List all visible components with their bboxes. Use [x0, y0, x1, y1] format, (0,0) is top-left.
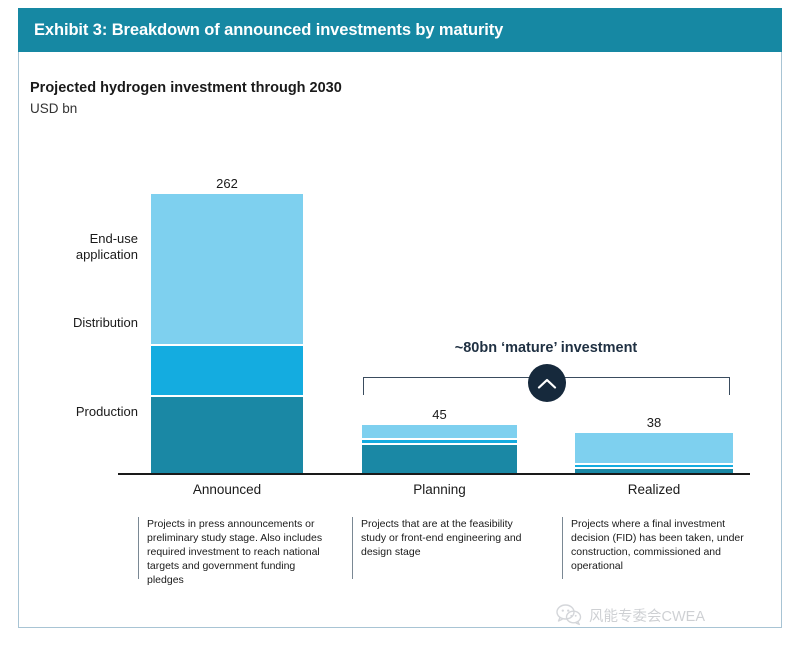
bar-segment-production[interactable]: [151, 397, 303, 473]
mature-investment-badge: [528, 364, 566, 402]
bar-announced[interactable]: [151, 194, 303, 473]
bar-value-label-realized: 38: [575, 415, 733, 430]
watermark-text: 风能专委会CWEA: [589, 605, 705, 626]
chart-units-subtitle: USD bn: [30, 101, 77, 116]
mature-investment-annotation-text: ~80bn ‘mature’ investment: [360, 340, 732, 356]
exhibit-header-title: Exhibit 3: Breakdown of announced invest…: [18, 21, 503, 40]
bar-value-label-planning: 45: [362, 407, 517, 422]
bar-segment-distribution[interactable]: [151, 346, 303, 395]
bar-planning[interactable]: [362, 425, 517, 473]
x-axis-label-planning: Planning: [362, 482, 517, 497]
chart-title: Projected hydrogen investment through 20…: [30, 80, 342, 96]
bar-segment-end-use-application[interactable]: [362, 425, 517, 438]
watermark: 风能专委会CWEA: [556, 604, 705, 626]
bar-realized[interactable]: [575, 433, 733, 473]
series-label-end-use-application: End-use application: [28, 231, 138, 263]
footnote-announced: Projects in press announcements or preli…: [138, 517, 326, 579]
series-label-distribution: Distribution: [28, 315, 138, 331]
exhibit-header: Exhibit 3: Breakdown of announced invest…: [18, 8, 782, 52]
wechat-icon: [556, 604, 582, 626]
chevron-up-icon: [537, 377, 557, 390]
bar-value-label-announced: 262: [151, 176, 303, 191]
bar-segment-production[interactable]: [362, 445, 517, 473]
bar-segment-end-use-application[interactable]: [151, 194, 303, 344]
x-axis-label-realized: Realized: [575, 482, 733, 497]
series-label-production: Production: [28, 404, 138, 420]
footnote-realized: Projects where a final investment decisi…: [562, 517, 757, 579]
footnote-planning: Projects that are at the feasibility stu…: [352, 517, 532, 579]
bar-segment-end-use-application[interactable]: [575, 433, 733, 463]
x-axis-line: [118, 473, 750, 475]
x-axis-label-announced: Announced: [151, 482, 303, 497]
